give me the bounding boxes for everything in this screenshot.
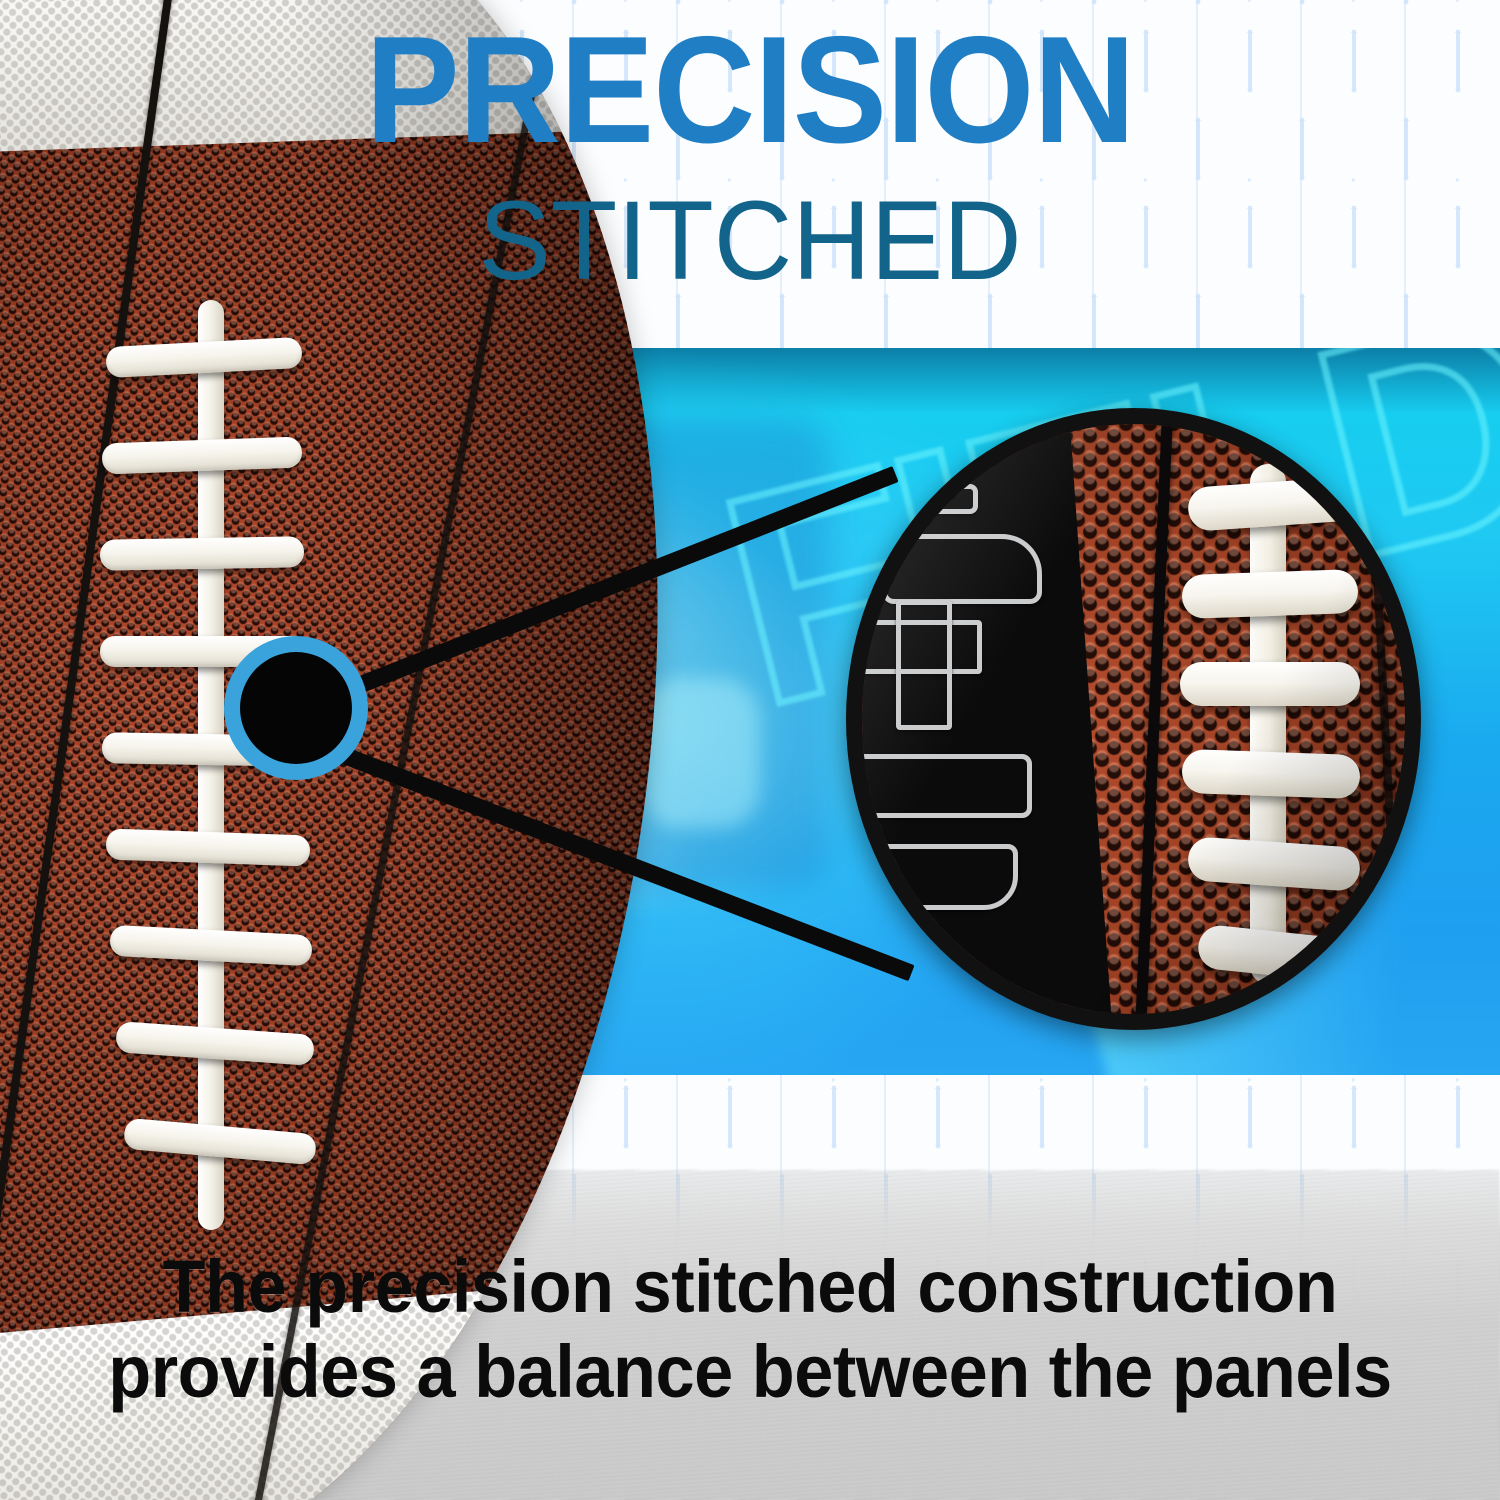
closeup-sheen [862,424,1405,1014]
magnifier-content [862,424,1405,1014]
lace-4 [100,636,306,667]
lace-2 [102,437,303,475]
lace-6 [106,828,311,866]
caption-block: The precision stitched construction prov… [38,1245,1463,1414]
caption-line-2: provides a balance between the panels [38,1330,1463,1414]
caption-line-1: The precision stitched construction [38,1245,1463,1329]
lace-3 [100,536,305,571]
lace-7 [109,925,312,967]
lace-5 [102,732,309,767]
product-feature-card: PRECISION STITCHED FIELD [0,0,1500,1500]
magnifier-callout[interactable] [846,408,1421,1030]
football-laces [80,300,400,1250]
helmet-highlight [640,678,760,828]
lace-1 [105,337,302,378]
